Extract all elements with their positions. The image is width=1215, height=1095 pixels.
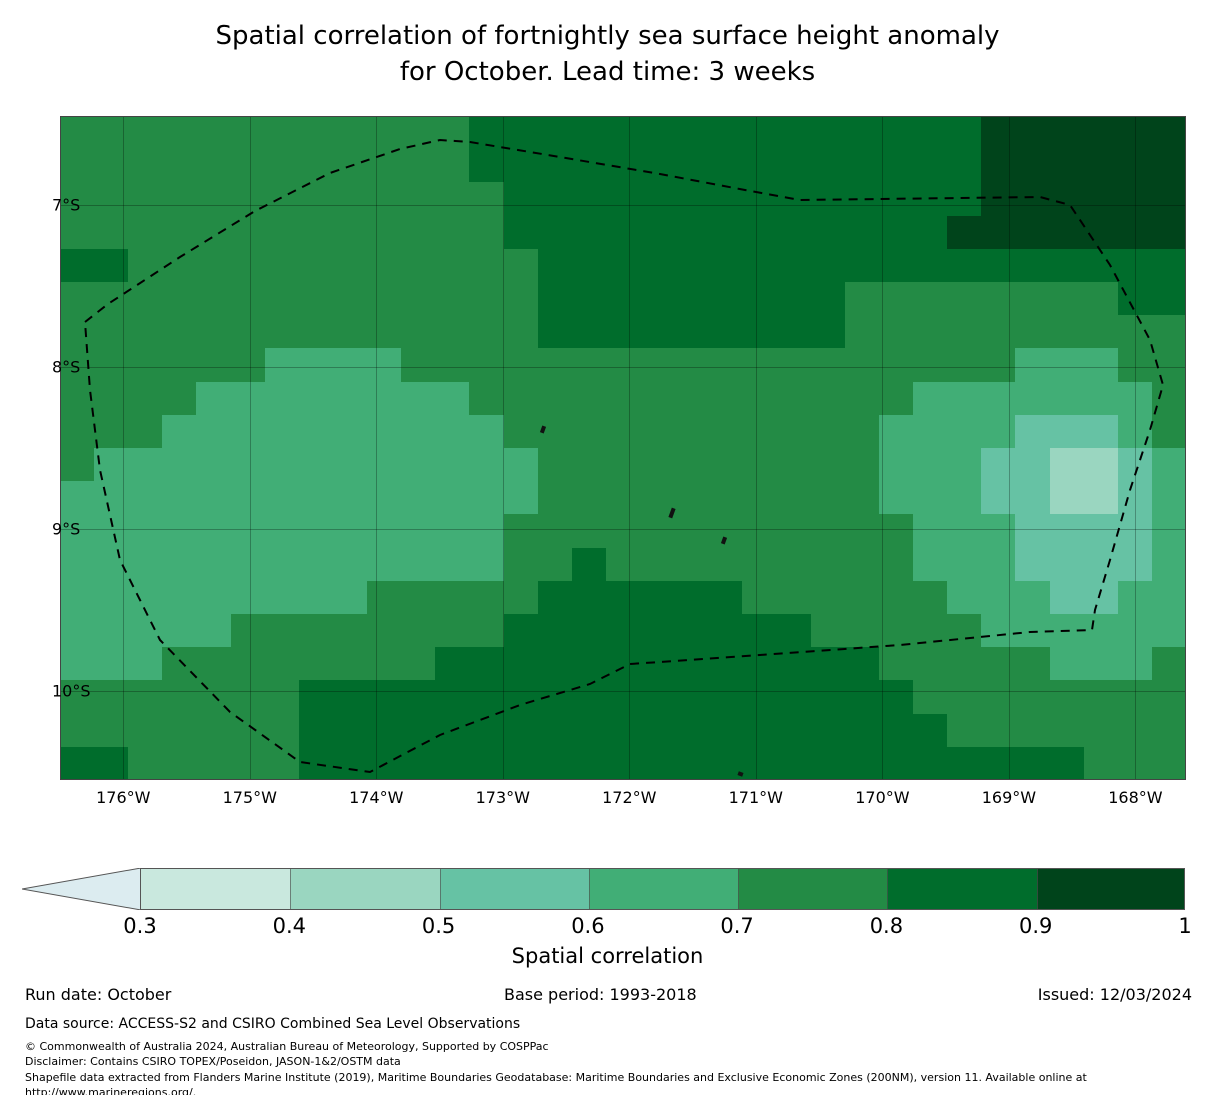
heatmap-cell [538, 448, 573, 482]
heatmap-cell [265, 116, 300, 150]
heatmap-cell [572, 382, 607, 416]
heatmap-cell [879, 415, 914, 449]
heatmap-cell [879, 747, 914, 780]
heatmap-cell [469, 581, 504, 615]
heatmap-cell [367, 348, 402, 382]
heatmap-cell [845, 116, 880, 150]
heatmap-cell [913, 514, 948, 548]
heatmap-cell [504, 182, 539, 216]
heatmap-cell [128, 448, 163, 482]
heatmap-cell [128, 481, 163, 515]
colorbar-band [141, 869, 291, 909]
heatmap-cell [913, 548, 948, 582]
heatmap-cell [1118, 249, 1153, 283]
heatmap-cell [572, 149, 607, 183]
heatmap-cell [1152, 116, 1186, 150]
heatmap-cell [94, 315, 129, 349]
heatmap-cell [913, 647, 948, 681]
heatmap-cell [947, 249, 982, 283]
heatmap-cell [845, 182, 880, 216]
heatmap-cell [265, 448, 300, 482]
heatmap-cell [333, 216, 368, 250]
heatmap-cell [60, 216, 95, 250]
heatmap-cell [299, 415, 334, 449]
heatmap-cell [606, 149, 641, 183]
heatmap-cell [367, 282, 402, 316]
heatmap-cell [981, 680, 1016, 714]
heatmap-cell [708, 614, 743, 648]
heatmap-cell [1084, 382, 1119, 416]
heatmap-cell [913, 714, 948, 748]
heatmap-cell [674, 448, 709, 482]
heatmap-cell [1118, 714, 1153, 748]
heatmap-cell [913, 116, 948, 150]
colorbar-separator [440, 869, 441, 909]
heatmap-cell [504, 548, 539, 582]
heatmap-cell [742, 348, 777, 382]
heatmap-cell [265, 149, 300, 183]
heatmap-cell [777, 382, 812, 416]
heatmap-cell [913, 614, 948, 648]
heatmap-cell [1050, 647, 1085, 681]
colorbar-band [440, 869, 590, 909]
heatmap-cell [401, 647, 436, 681]
heatmap-cell [811, 481, 846, 515]
heatmap-cell [1152, 415, 1186, 449]
heatmap-cell [811, 249, 846, 283]
base-period: Base period: 1993-2018 [504, 985, 697, 1004]
heatmap-cell [1050, 182, 1085, 216]
heatmap-cell [435, 747, 470, 780]
heatmap-cell [1015, 382, 1050, 416]
heatmap-cell [1050, 149, 1085, 183]
heatmap-cell [299, 680, 334, 714]
heatmap-cell [128, 249, 163, 283]
heatmap-cell [947, 116, 982, 150]
heatmap-cell [845, 514, 880, 548]
heatmap-cell [1118, 415, 1153, 449]
heatmap-cell [504, 647, 539, 681]
heatmap-cell [1050, 249, 1085, 283]
heatmap-cell [231, 481, 266, 515]
heatmap-cell [401, 315, 436, 349]
heatmap-cell [674, 481, 709, 515]
heatmap-cell [196, 348, 231, 382]
x-tick-label: 176°W [96, 788, 150, 807]
x-tick-label: 171°W [729, 788, 783, 807]
heatmap-cell [333, 647, 368, 681]
colorbar-band [1037, 869, 1185, 909]
heatmap-cell [913, 149, 948, 183]
heatmap-cell [981, 481, 1016, 515]
heatmap-cell [60, 382, 95, 416]
heatmap-cell [708, 149, 743, 183]
heatmap-cell [435, 315, 470, 349]
heatmap-cell [708, 415, 743, 449]
heatmap-cell [196, 315, 231, 349]
heatmap-cell [1015, 448, 1050, 482]
heatmap-cell [504, 149, 539, 183]
heatmap-cell [1118, 548, 1153, 582]
heatmap-cell [1084, 747, 1119, 780]
heatmap-cell [913, 249, 948, 283]
y-tick-label: 7°S [52, 196, 80, 215]
heatmap-cell [367, 116, 402, 150]
heatmap-cell [265, 747, 300, 780]
shapefile-note: Shapefile data extracted from Flanders M… [25, 1070, 1205, 1095]
heatmap-cell [1152, 647, 1186, 681]
heatmap-cell [299, 315, 334, 349]
heatmap-cell [367, 514, 402, 548]
heatmap-cell [162, 614, 197, 648]
heatmap-cell [674, 548, 709, 582]
heatmap-cell [94, 548, 129, 582]
heatmap-cell [60, 249, 95, 283]
heatmap-grid [60, 116, 1186, 780]
heatmap-cell [367, 747, 402, 780]
heatmap-cell [196, 448, 231, 482]
heatmap-cell [1118, 481, 1153, 515]
colorbar-tick-label: 0.3 [123, 914, 156, 938]
heatmap-cell [742, 315, 777, 349]
page-title: Spatial correlation of fortnightly sea s… [0, 18, 1215, 90]
heatmap-cell [94, 714, 129, 748]
heatmap-cell [538, 249, 573, 283]
heatmap-cell [401, 415, 436, 449]
heatmap-cell [401, 747, 436, 780]
heatmap-cell [811, 581, 846, 615]
heatmap-cell [265, 647, 300, 681]
heatmap-cell [538, 149, 573, 183]
heatmap-cell [777, 149, 812, 183]
heatmap-cell [1084, 680, 1119, 714]
heatmap-cell [265, 680, 300, 714]
heatmap-cell [1015, 481, 1050, 515]
heatmap-cell [777, 747, 812, 780]
colorbar-tick-label: 1 [1178, 914, 1191, 938]
heatmap-cell [60, 747, 95, 780]
heatmap-cell [333, 348, 368, 382]
heatmap-cell [538, 182, 573, 216]
heatmap-cell [845, 382, 880, 416]
heatmap-cell [845, 680, 880, 714]
heatmap-cell [60, 448, 95, 482]
heatmap-cell [1118, 514, 1153, 548]
heatmap-cell [299, 249, 334, 283]
heatmap-cell [981, 514, 1016, 548]
heatmap-cell [299, 116, 334, 150]
heatmap-cell [947, 714, 982, 748]
heatmap-cell [913, 680, 948, 714]
heatmap-cell [674, 315, 709, 349]
heatmap-cell [606, 647, 641, 681]
heatmap-cell [640, 249, 675, 283]
heatmap-cell [469, 548, 504, 582]
heatmap-cell [811, 448, 846, 482]
heatmap-cell [1015, 149, 1050, 183]
heatmap-cell [879, 315, 914, 349]
heatmap-cell [606, 249, 641, 283]
heatmap-cell [469, 514, 504, 548]
heatmap-cell [367, 714, 402, 748]
heatmap-cell [913, 216, 948, 250]
heatmap-cell [333, 116, 368, 150]
heatmap-cell [640, 415, 675, 449]
heatmap-cell [947, 647, 982, 681]
heatmap-cell [435, 348, 470, 382]
heatmap-cell [572, 216, 607, 250]
colorbar-separator [290, 869, 291, 909]
heatmap-cell [572, 249, 607, 283]
heatmap-cell [606, 415, 641, 449]
heatmap-cell [811, 415, 846, 449]
heatmap-cell [1084, 647, 1119, 681]
heatmap-cell [811, 182, 846, 216]
heatmap-cell [777, 514, 812, 548]
heatmap-cell [94, 182, 129, 216]
heatmap-cell [981, 348, 1016, 382]
heatmap-cell [60, 415, 95, 449]
heatmap-cell [742, 415, 777, 449]
heatmap-cell [60, 614, 95, 648]
heatmap-cell [94, 680, 129, 714]
heatmap-cell [879, 216, 914, 250]
heatmap-cell [196, 581, 231, 615]
heatmap-cell [231, 182, 266, 216]
heatmap-cell [879, 647, 914, 681]
heatmap-cell [811, 614, 846, 648]
heatmap-cell [1118, 448, 1153, 482]
colorbar-band [738, 869, 888, 909]
heatmap-cell [1050, 548, 1085, 582]
heatmap-cell [708, 116, 743, 150]
heatmap-cell [913, 382, 948, 416]
heatmap-cell [1084, 614, 1119, 648]
heatmap-cell [538, 714, 573, 748]
heatmap-cell [401, 514, 436, 548]
heatmap-cell [162, 348, 197, 382]
heatmap-cell [572, 747, 607, 780]
heatmap-cell [777, 714, 812, 748]
heatmap-cell [606, 116, 641, 150]
heatmap-cell [162, 514, 197, 548]
disclaimer-note: Disclaimer: Contains CSIRO TOPEX/Poseido… [25, 1055, 1205, 1068]
heatmap-cell [333, 182, 368, 216]
heatmap-cell [606, 382, 641, 416]
heatmap-cell [1118, 182, 1153, 216]
heatmap-cell [231, 216, 266, 250]
heatmap-cell [845, 747, 880, 780]
heatmap-cell [674, 216, 709, 250]
heatmap-cell [333, 581, 368, 615]
heatmap-cell [504, 348, 539, 382]
heatmap-cell [879, 182, 914, 216]
heatmap-cell [504, 714, 539, 748]
heatmap-cell [640, 514, 675, 548]
heatmap-cell [231, 249, 266, 283]
heatmap-cell [913, 581, 948, 615]
heatmap-cell [572, 182, 607, 216]
heatmap-cell [299, 714, 334, 748]
y-tick-label: 8°S [52, 358, 80, 377]
heatmap-cell [640, 116, 675, 150]
heatmap-cell [333, 149, 368, 183]
heatmap-cell [333, 747, 368, 780]
heatmap-cell [811, 315, 846, 349]
heatmap-cell [333, 680, 368, 714]
heatmap-cell [879, 382, 914, 416]
heatmap-cell [1050, 282, 1085, 316]
heatmap-cell [708, 714, 743, 748]
heatmap-cell [367, 149, 402, 183]
heatmap-cell [708, 382, 743, 416]
heatmap-cell [538, 548, 573, 582]
heatmap-cell [333, 249, 368, 283]
heatmap-cell [1084, 249, 1119, 283]
heatmap-cell [572, 481, 607, 515]
heatmap-cell [606, 315, 641, 349]
heatmap-cell [606, 514, 641, 548]
heatmap-cell [742, 249, 777, 283]
heatmap-cell [367, 216, 402, 250]
heatmap-cell [606, 581, 641, 615]
heatmap-cell [435, 614, 470, 648]
heatmap-cell [742, 182, 777, 216]
heatmap-cell [435, 182, 470, 216]
heatmap-cell [572, 614, 607, 648]
heatmap-cell [60, 548, 95, 582]
heatmap-cell [469, 448, 504, 482]
heatmap-cell [469, 481, 504, 515]
heatmap-cell [401, 182, 436, 216]
heatmap-cell [777, 680, 812, 714]
heatmap-cell [640, 614, 675, 648]
heatmap-cell [162, 382, 197, 416]
heatmap-cell [708, 249, 743, 283]
heatmap-cell [299, 548, 334, 582]
heatmap-cell [435, 647, 470, 681]
heatmap-cell [742, 481, 777, 515]
heatmap-cell [742, 116, 777, 150]
heatmap-cell [162, 282, 197, 316]
heatmap-cell [947, 514, 982, 548]
heatmap-cell [640, 315, 675, 349]
heatmap-cell [1152, 249, 1186, 283]
heatmap-cell [606, 680, 641, 714]
heatmap-cell [1050, 481, 1085, 515]
heatmap-cell [879, 448, 914, 482]
heatmap-cell [606, 216, 641, 250]
heatmap-cell [333, 415, 368, 449]
heatmap-cell [1050, 747, 1085, 780]
heatmap-cell [299, 149, 334, 183]
heatmap-cell [742, 448, 777, 482]
heatmap-cell [538, 747, 573, 780]
colorbar-tick-label: 0.8 [870, 914, 903, 938]
heatmap-cell [1084, 348, 1119, 382]
heatmap-cell [1118, 116, 1153, 150]
x-tick-label: 175°W [223, 788, 277, 807]
heatmap-cell [504, 581, 539, 615]
heatmap-cell [606, 448, 641, 482]
heatmap-cell [504, 614, 539, 648]
heatmap-cell [811, 216, 846, 250]
metadata-row: Run date: October Base period: 1993-2018… [0, 985, 1215, 1007]
heatmap-cell [469, 116, 504, 150]
heatmap-cell [640, 548, 675, 582]
heatmap-cell [1152, 514, 1186, 548]
heatmap-cell [674, 149, 709, 183]
heatmap-cell [606, 714, 641, 748]
heatmap-cell [538, 282, 573, 316]
heatmap-cell [981, 116, 1016, 150]
heatmap-cell [162, 216, 197, 250]
heatmap-cell [162, 315, 197, 349]
heatmap-cell [811, 747, 846, 780]
heatmap-cell [981, 581, 1016, 615]
heatmap-cell [640, 714, 675, 748]
heatmap-cell [333, 614, 368, 648]
heatmap-cell [1084, 581, 1119, 615]
heatmap-cell [981, 182, 1016, 216]
heatmap-cell [947, 315, 982, 349]
heatmap-cell [879, 282, 914, 316]
heatmap-cell [469, 647, 504, 681]
heatmap-cell [504, 448, 539, 482]
heatmap-cell [94, 647, 129, 681]
heatmap-cell [1015, 282, 1050, 316]
heatmap-cell [708, 448, 743, 482]
colorbar-tick-label: 0.5 [422, 914, 455, 938]
heatmap-cell [265, 548, 300, 582]
heatmap-cell [196, 182, 231, 216]
heatmap-cell [981, 382, 1016, 416]
heatmap-cell [162, 116, 197, 150]
heatmap-cell [231, 581, 266, 615]
heatmap-cell [401, 216, 436, 250]
heatmap-cell [1050, 216, 1085, 250]
heatmap-cell [94, 514, 129, 548]
heatmap-cell [572, 581, 607, 615]
heatmap-cell [538, 481, 573, 515]
heatmap-cell [299, 514, 334, 548]
heatmap-cell [708, 481, 743, 515]
heatmap-cell [504, 315, 539, 349]
heatmap-cell [231, 382, 266, 416]
heatmap-cell [640, 216, 675, 250]
heatmap-cell [742, 581, 777, 615]
heatmap-cell [1152, 216, 1186, 250]
heatmap-cell [606, 747, 641, 780]
heatmap-cell [1084, 481, 1119, 515]
heatmap-cell [674, 714, 709, 748]
colorbar-gradient [140, 868, 1185, 910]
heatmap-cell [401, 680, 436, 714]
heatmap-cell [777, 348, 812, 382]
heatmap-cell [435, 680, 470, 714]
heatmap-cell [94, 249, 129, 283]
heatmap-cell [1118, 382, 1153, 416]
heatmap-cell [60, 315, 95, 349]
x-tick-label: 169°W [982, 788, 1036, 807]
heatmap-cell [94, 415, 129, 449]
heatmap-cell [811, 514, 846, 548]
heatmap-cell [981, 149, 1016, 183]
heatmap-cell [435, 714, 470, 748]
heatmap-cell [94, 481, 129, 515]
heatmap-cell [60, 581, 95, 615]
heatmap-cell [640, 481, 675, 515]
